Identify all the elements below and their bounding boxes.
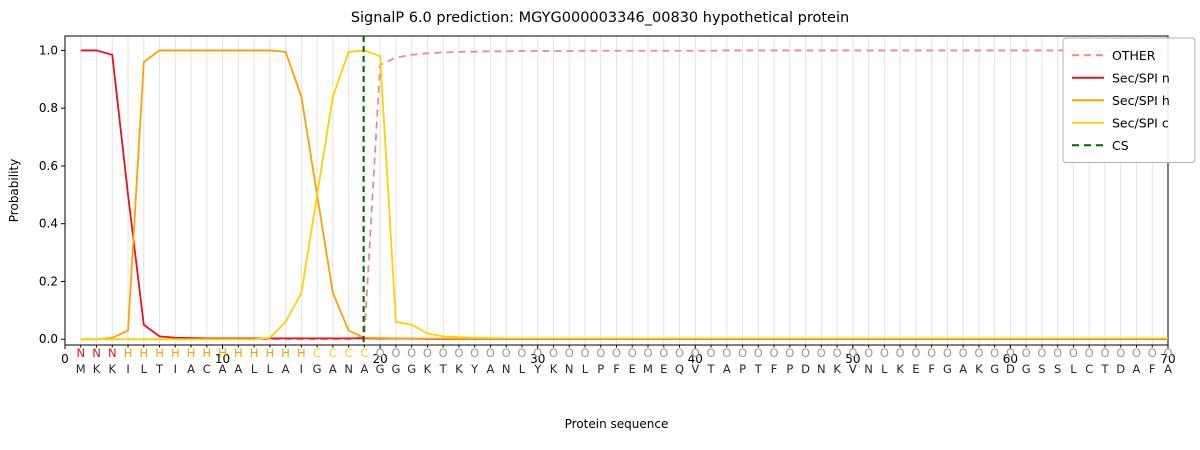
residue-label: L (582, 362, 589, 376)
legend-label-sec-spi-h: Sec/SPI h (1112, 93, 1170, 108)
region-label: C (360, 346, 368, 360)
residue-label: C (1085, 362, 1093, 376)
region-label: O (533, 346, 542, 360)
region-label: H (266, 346, 275, 360)
region-label: O (596, 346, 605, 360)
residue-label: M (643, 362, 653, 376)
region-label: O (1132, 346, 1141, 360)
residue-label: G (1022, 362, 1031, 376)
residue-label: M (76, 362, 86, 376)
residue-label: A (1133, 362, 1141, 376)
residue-label: F (928, 362, 935, 376)
residue-label: K (896, 362, 904, 376)
chart-canvas: 0.00.20.40.60.81.0010203040506070Protein… (0, 0, 1200, 450)
residue-label: K (93, 362, 101, 376)
residue-label: L (251, 362, 258, 376)
region-label: O (707, 346, 716, 360)
region-label: O (974, 346, 983, 360)
residue-label: A (360, 362, 368, 376)
region-label: O (1006, 346, 1015, 360)
residue-label: N (344, 362, 353, 376)
residue-label: V (691, 362, 699, 376)
residue-label: N (817, 362, 826, 376)
residue-label: A (329, 362, 337, 376)
residue-label: P (597, 362, 604, 376)
region-label: N (76, 346, 85, 360)
residue-label: G (376, 362, 385, 376)
residue-label: I (126, 362, 129, 376)
residue-label: D (1006, 362, 1015, 376)
residue-label: A (487, 362, 495, 376)
residue-label: T (707, 362, 716, 376)
series-line-other (81, 50, 1168, 339)
residue-label: Y (470, 362, 479, 376)
residue-label: A (723, 362, 731, 376)
region-label: O (848, 346, 857, 360)
region-label: O (628, 346, 637, 360)
residue-label: D (1116, 362, 1125, 376)
residue-label: Y (533, 362, 542, 376)
residue-label: L (881, 362, 888, 376)
region-label: H (187, 346, 196, 360)
region-label: O (754, 346, 763, 360)
region-label: O (959, 346, 968, 360)
region-label: O (675, 346, 684, 360)
region-label: H (202, 346, 211, 360)
region-label: O (391, 346, 400, 360)
region-label: O (643, 346, 652, 360)
y-axis: 0.00.20.40.60.81.0 (39, 43, 65, 346)
region-label: O (817, 346, 826, 360)
region-label: O (864, 346, 873, 360)
region-label: H (281, 346, 290, 360)
residue-label: F (613, 362, 620, 376)
residue-label: A (234, 362, 242, 376)
residue-label: L (1070, 362, 1077, 376)
region-label: O (659, 346, 668, 360)
region-label: O (1148, 346, 1157, 360)
region-label: O (549, 346, 558, 360)
y-tick-label: 0.8 (39, 101, 58, 115)
region-label: O (1085, 346, 1094, 360)
legend: OTHERSec/SPI nSec/SPI hSec/SPI cCS (1063, 38, 1195, 163)
region-label: O (770, 346, 779, 360)
residue-label: E (660, 362, 667, 376)
region-label: O (1163, 346, 1172, 360)
signalp-prediction-figure: SignalP 6.0 prediction: MGYG000003346_00… (0, 0, 1200, 450)
residue-label: T (1100, 362, 1109, 376)
region-label: H (234, 346, 243, 360)
region-label: H (124, 346, 133, 360)
residue-label: A (219, 362, 227, 376)
residue-label: C (203, 362, 211, 376)
residue-label: T (155, 362, 164, 376)
series-line-sec-spi-c (81, 50, 1168, 339)
region-label: H (155, 346, 164, 360)
residue-label: A (282, 362, 290, 376)
region-label: O (407, 346, 416, 360)
residue-label: K (833, 362, 841, 376)
region-label: H (297, 346, 306, 360)
region-label: O (1037, 346, 1046, 360)
y-tick-label: 0.0 (39, 332, 58, 346)
residue-label: S (1054, 362, 1061, 376)
region-label: O (691, 346, 700, 360)
residue-label: K (108, 362, 116, 376)
series-line-sec-spi-n (81, 50, 1168, 338)
residue-label: G (990, 362, 999, 376)
region-label: C (313, 346, 321, 360)
residue-label: N (565, 362, 574, 376)
residue-label: G (943, 362, 952, 376)
residue-label: N (502, 362, 511, 376)
region-label: O (1053, 346, 1062, 360)
residue-label: G (313, 362, 322, 376)
region-label: O (880, 346, 889, 360)
region-label: H (218, 346, 227, 360)
residue-label: L (141, 362, 148, 376)
residue-label: L (267, 362, 274, 376)
y-tick-label: 0.6 (39, 159, 58, 173)
region-label: O (785, 346, 794, 360)
region-label: O (376, 346, 385, 360)
legend-label-sec-spi-c: Sec/SPI c (1112, 115, 1169, 130)
y-tick-label: 0.4 (39, 217, 58, 231)
region-label: O (927, 346, 936, 360)
region-label: H (171, 346, 180, 360)
region-label: H (139, 346, 148, 360)
region-label: O (911, 346, 920, 360)
region-label: C (345, 346, 353, 360)
series-line-sec-spi-h (81, 50, 1168, 339)
region-label: O (470, 346, 479, 360)
residue-label: L (519, 362, 526, 376)
residue-label: A (959, 362, 967, 376)
residue-label: K (550, 362, 558, 376)
region-label: H (250, 346, 259, 360)
residue-label: G (391, 362, 400, 376)
y-axis-title: Probability (7, 159, 21, 222)
region-label: O (990, 346, 999, 360)
residue-label: P (739, 362, 746, 376)
region-label: O (1022, 346, 1031, 360)
residue-label: S (1038, 362, 1045, 376)
residue-label: I (300, 362, 303, 376)
residue-label: N (864, 362, 873, 376)
residue-label: T (439, 362, 448, 376)
region-label: O (580, 346, 589, 360)
residue-label: T (754, 362, 763, 376)
residue-label: G (407, 362, 416, 376)
region-label: O (722, 346, 731, 360)
residue-label: F (771, 362, 778, 376)
residue-label: Q (675, 362, 684, 376)
residue-label: V (849, 362, 857, 376)
residue-label: I (174, 362, 177, 376)
region-label: N (92, 346, 101, 360)
legend-label-other: OTHER (1112, 48, 1156, 63)
legend-label-cs: CS (1112, 138, 1129, 153)
region-label: O (833, 346, 842, 360)
region-label: O (1069, 346, 1078, 360)
residue-label: E (912, 362, 919, 376)
residue-label: A (187, 362, 195, 376)
gridlines (81, 36, 1168, 345)
region-label: O (612, 346, 621, 360)
region-label: O (1100, 346, 1109, 360)
residue-label: E (629, 362, 636, 376)
x-tick-label: 0 (61, 352, 69, 366)
legend-label-sec-spi-n: Sec/SPI n (1112, 70, 1170, 85)
region-label: O (439, 346, 448, 360)
region-label: O (502, 346, 511, 360)
region-label: O (801, 346, 810, 360)
y-tick-label: 1.0 (39, 43, 58, 57)
residue-label: K (455, 362, 463, 376)
residue-label: F (1149, 362, 1156, 376)
residue-label: D (801, 362, 810, 376)
region-label: O (565, 346, 574, 360)
residue-label: K (975, 362, 983, 376)
region-label: O (486, 346, 495, 360)
residue-label: A (1164, 362, 1172, 376)
residue-label: K (424, 362, 432, 376)
region-label: N (108, 346, 117, 360)
region-label: O (1116, 346, 1125, 360)
region-label: O (454, 346, 463, 360)
x-axis-title: Protein sequence (565, 417, 669, 431)
residue-label: P (786, 362, 793, 376)
region-label: O (738, 346, 747, 360)
region-label: O (943, 346, 952, 360)
region-label: O (423, 346, 432, 360)
region-label: C (329, 346, 337, 360)
region-label: O (896, 346, 905, 360)
y-tick-label: 0.2 (39, 274, 58, 288)
region-label: O (517, 346, 526, 360)
